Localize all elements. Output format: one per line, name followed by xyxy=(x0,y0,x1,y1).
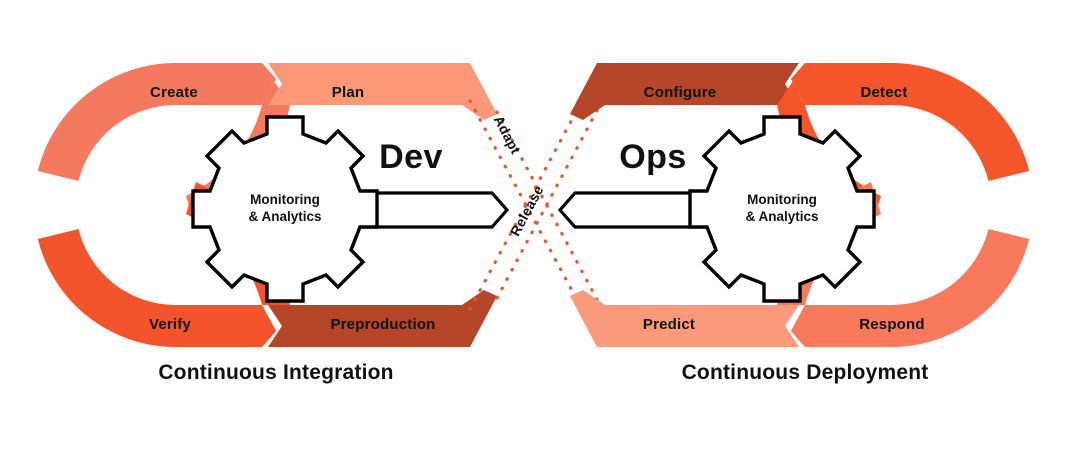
segment-respond-label: Respond xyxy=(859,316,925,333)
ops-gear-icon: Monitoring & Analytics xyxy=(690,117,874,301)
adapt-label: Adapt xyxy=(491,113,524,157)
devops-infinity-diagram: Monitoring & Analytics Create Plan Prepr… xyxy=(0,0,1067,450)
dev-gear-label-line2: & Analytics xyxy=(248,209,321,224)
continuous-deployment-caption: Continuous Deployment xyxy=(682,361,929,384)
segment-configure-label: Configure xyxy=(644,84,717,101)
right-loop-group: Monitoring & Analytics Configure Detect … xyxy=(560,63,1029,384)
diagram-canvas: Monitoring & Analytics Create Plan Prepr… xyxy=(0,0,1067,450)
ops-gear-label-line1: Monitoring xyxy=(747,192,817,207)
segment-plan-label: Plan xyxy=(332,84,364,101)
segment-plan-band[interactable] xyxy=(268,63,497,120)
dev-label: Dev xyxy=(379,138,443,176)
continuous-integration-caption: Continuous Integration xyxy=(158,361,393,384)
segment-plan[interactable] xyxy=(268,63,497,120)
segment-predict-label: Predict xyxy=(643,316,695,333)
segment-detect-label: Detect xyxy=(860,84,907,101)
ops-label: Ops xyxy=(619,138,687,176)
dev-gear-icon: Monitoring & Analytics xyxy=(193,117,377,301)
dev-gear-label-line1: Monitoring xyxy=(250,192,320,207)
segment-create-label: Create xyxy=(150,84,198,101)
segment-verify-label: Verify xyxy=(149,316,192,333)
left-loop-group: Monitoring & Analytics Create Plan Prepr… xyxy=(38,63,507,384)
segment-preproduction-label: Preproduction xyxy=(330,316,435,333)
ops-gear-label-line2: & Analytics xyxy=(745,209,818,224)
